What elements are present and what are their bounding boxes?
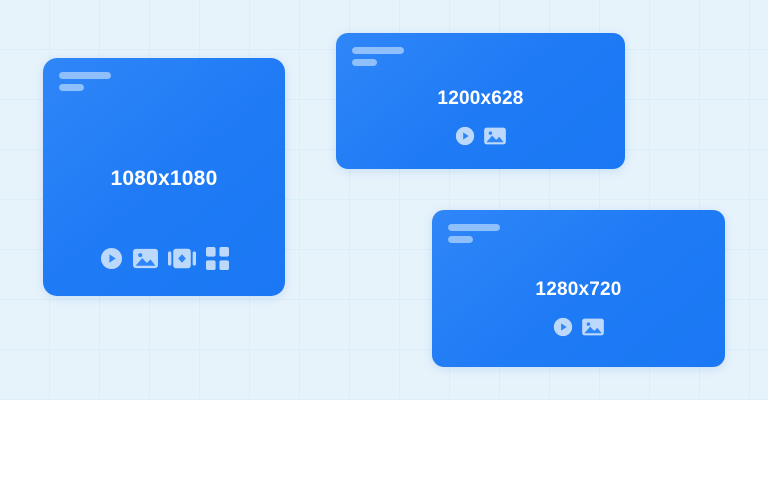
- image-icon[interactable]: [484, 126, 506, 146]
- banner-page: 1080x1080: [0, 0, 768, 498]
- card-placeholder-bars: [43, 58, 111, 91]
- grid-icon[interactable]: [206, 247, 229, 270]
- footer-bar: Facebook Ads Size Banner SPIDER AF spide…: [0, 400, 768, 498]
- grid-canvas: 1080x1080: [0, 0, 768, 400]
- placeholder-bar-short: [352, 59, 377, 66]
- placeholder-bar-long: [59, 72, 111, 79]
- card-icons-1080x1080: [43, 247, 285, 270]
- placeholder-bar-long: [448, 224, 500, 231]
- play-circle-icon[interactable]: [100, 247, 123, 270]
- card-label-1200x628: 1200x628: [336, 88, 625, 110]
- image-icon[interactable]: [133, 247, 158, 270]
- carousel-icon[interactable]: [168, 247, 196, 270]
- placeholder-bar-short: [59, 84, 84, 91]
- image-icon[interactable]: [582, 317, 604, 337]
- card-icons-1200x628: [336, 126, 625, 146]
- card-placeholder-bars: [432, 210, 500, 243]
- placeholder-bar-long: [352, 47, 404, 54]
- card-label-1080x1080: 1080x1080: [43, 167, 285, 191]
- play-circle-icon[interactable]: [553, 317, 573, 337]
- placeholder-bar-short: [448, 236, 473, 243]
- card-placeholder-bars: [336, 33, 404, 66]
- play-circle-icon[interactable]: [455, 126, 475, 146]
- card-icons-1280x720: [432, 317, 725, 337]
- card-label-1280x720: 1280x720: [432, 279, 725, 301]
